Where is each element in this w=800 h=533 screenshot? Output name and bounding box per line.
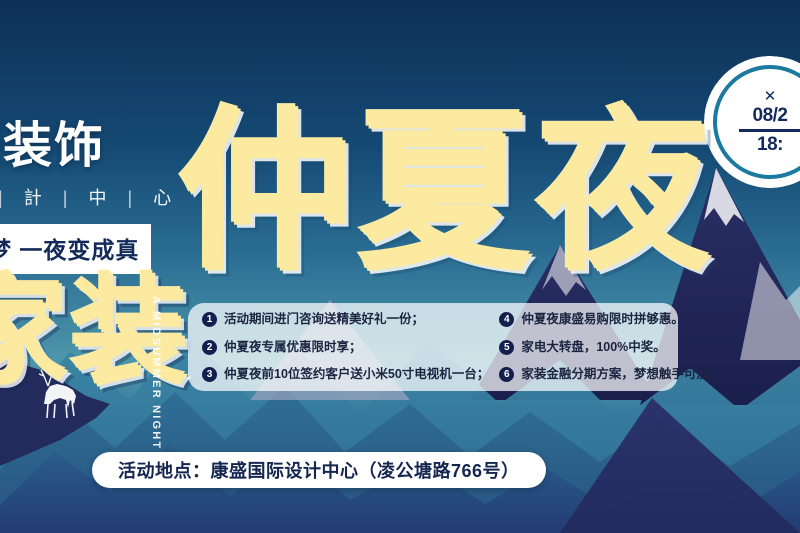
offer-item: 4 仲夏夜康盛易购限时拼够惠。 (499, 312, 721, 327)
offer-text: 仲夏夜前10位签约客户送小米50寸电视机一台； (224, 367, 489, 382)
brand-subtitle: 設 | 計 | 中 | 心 (0, 184, 192, 210)
offer-item: 3 仲夏夜前10位签约客户送小米50寸电视机一台； (202, 367, 489, 382)
offer-text: 家装金融分期方案，梦想触手可及。 (521, 367, 721, 382)
badge-divider (739, 129, 800, 132)
offer-number: 1 (202, 312, 217, 327)
promo-poster: ✕ 08/2 18: 盛装饰 設 | 計 | 中 | 心 装梦 一夜变成真 仲夏… (0, 0, 800, 533)
address-pill: 活动地点：康盛国际设计中心（凌公塘路766号） (92, 452, 546, 488)
offer-text: 活动期间进门咨询送精美好礼一份； (224, 312, 424, 327)
address-text: 活动地点：康盛国际设计中心（凌公塘路766号） (118, 457, 520, 483)
brand-sub-sep-0: | (0, 188, 4, 208)
badge-top-mark: ✕ (764, 89, 777, 105)
brand-sub-char-3: 心 (153, 188, 172, 208)
brand-sub-sep-1: | (63, 188, 69, 208)
offer-text: 仲夏夜专属优惠限时享； (224, 340, 362, 355)
headline-main: 仲夏夜 (176, 104, 713, 279)
offer-number: 6 (499, 367, 514, 382)
offer-item: 6 家装金融分期方案，梦想触手可及。 (499, 367, 721, 382)
offer-item: 1 活动期间进门咨询送精美好礼一份； (202, 312, 489, 327)
brand-sub-char-1: 計 (24, 188, 43, 208)
offers-left-column: 1 活动期间进门咨询送精美好礼一份； 2 仲夏夜专属优惠限时享； 3 仲夏夜前1… (202, 312, 489, 382)
offer-number: 5 (499, 340, 514, 355)
brand-name: 盛装饰 (0, 118, 192, 174)
vertical-english-label: A MIDSUMMER NIGHT (150, 296, 162, 450)
offer-item: 5 家电大转盘，100%中奖。 (499, 340, 721, 355)
offers-right-column: 4 仲夏夜康盛易购限时拼够惠。 5 家电大转盘，100%中奖。 6 家装金融分期… (499, 312, 721, 382)
badge-date: 08/2 (753, 105, 788, 127)
offers-panel: 1 活动期间进门咨询送精美好礼一份； 2 仲夏夜专属优惠限时享； 3 仲夏夜前1… (188, 303, 678, 391)
offer-number: 3 (202, 367, 217, 382)
brand-sub-sep-2: | (127, 188, 133, 208)
offer-number: 2 (202, 340, 217, 355)
offer-text: 仲夏夜康盛易购限时拼够惠。 (521, 312, 684, 327)
brand-sub-char-2: 中 (88, 188, 107, 208)
date-badge: ✕ 08/2 18: (704, 56, 800, 188)
offer-item: 2 仲夏夜专属优惠限时享； (202, 340, 489, 355)
badge-time: 18: (757, 134, 783, 156)
brand-block: 盛装饰 設 | 計 | 中 | 心 装梦 一夜变成真 (0, 118, 192, 274)
offer-number: 4 (499, 312, 514, 327)
offer-text: 家电大转盘，100%中奖。 (521, 340, 665, 355)
